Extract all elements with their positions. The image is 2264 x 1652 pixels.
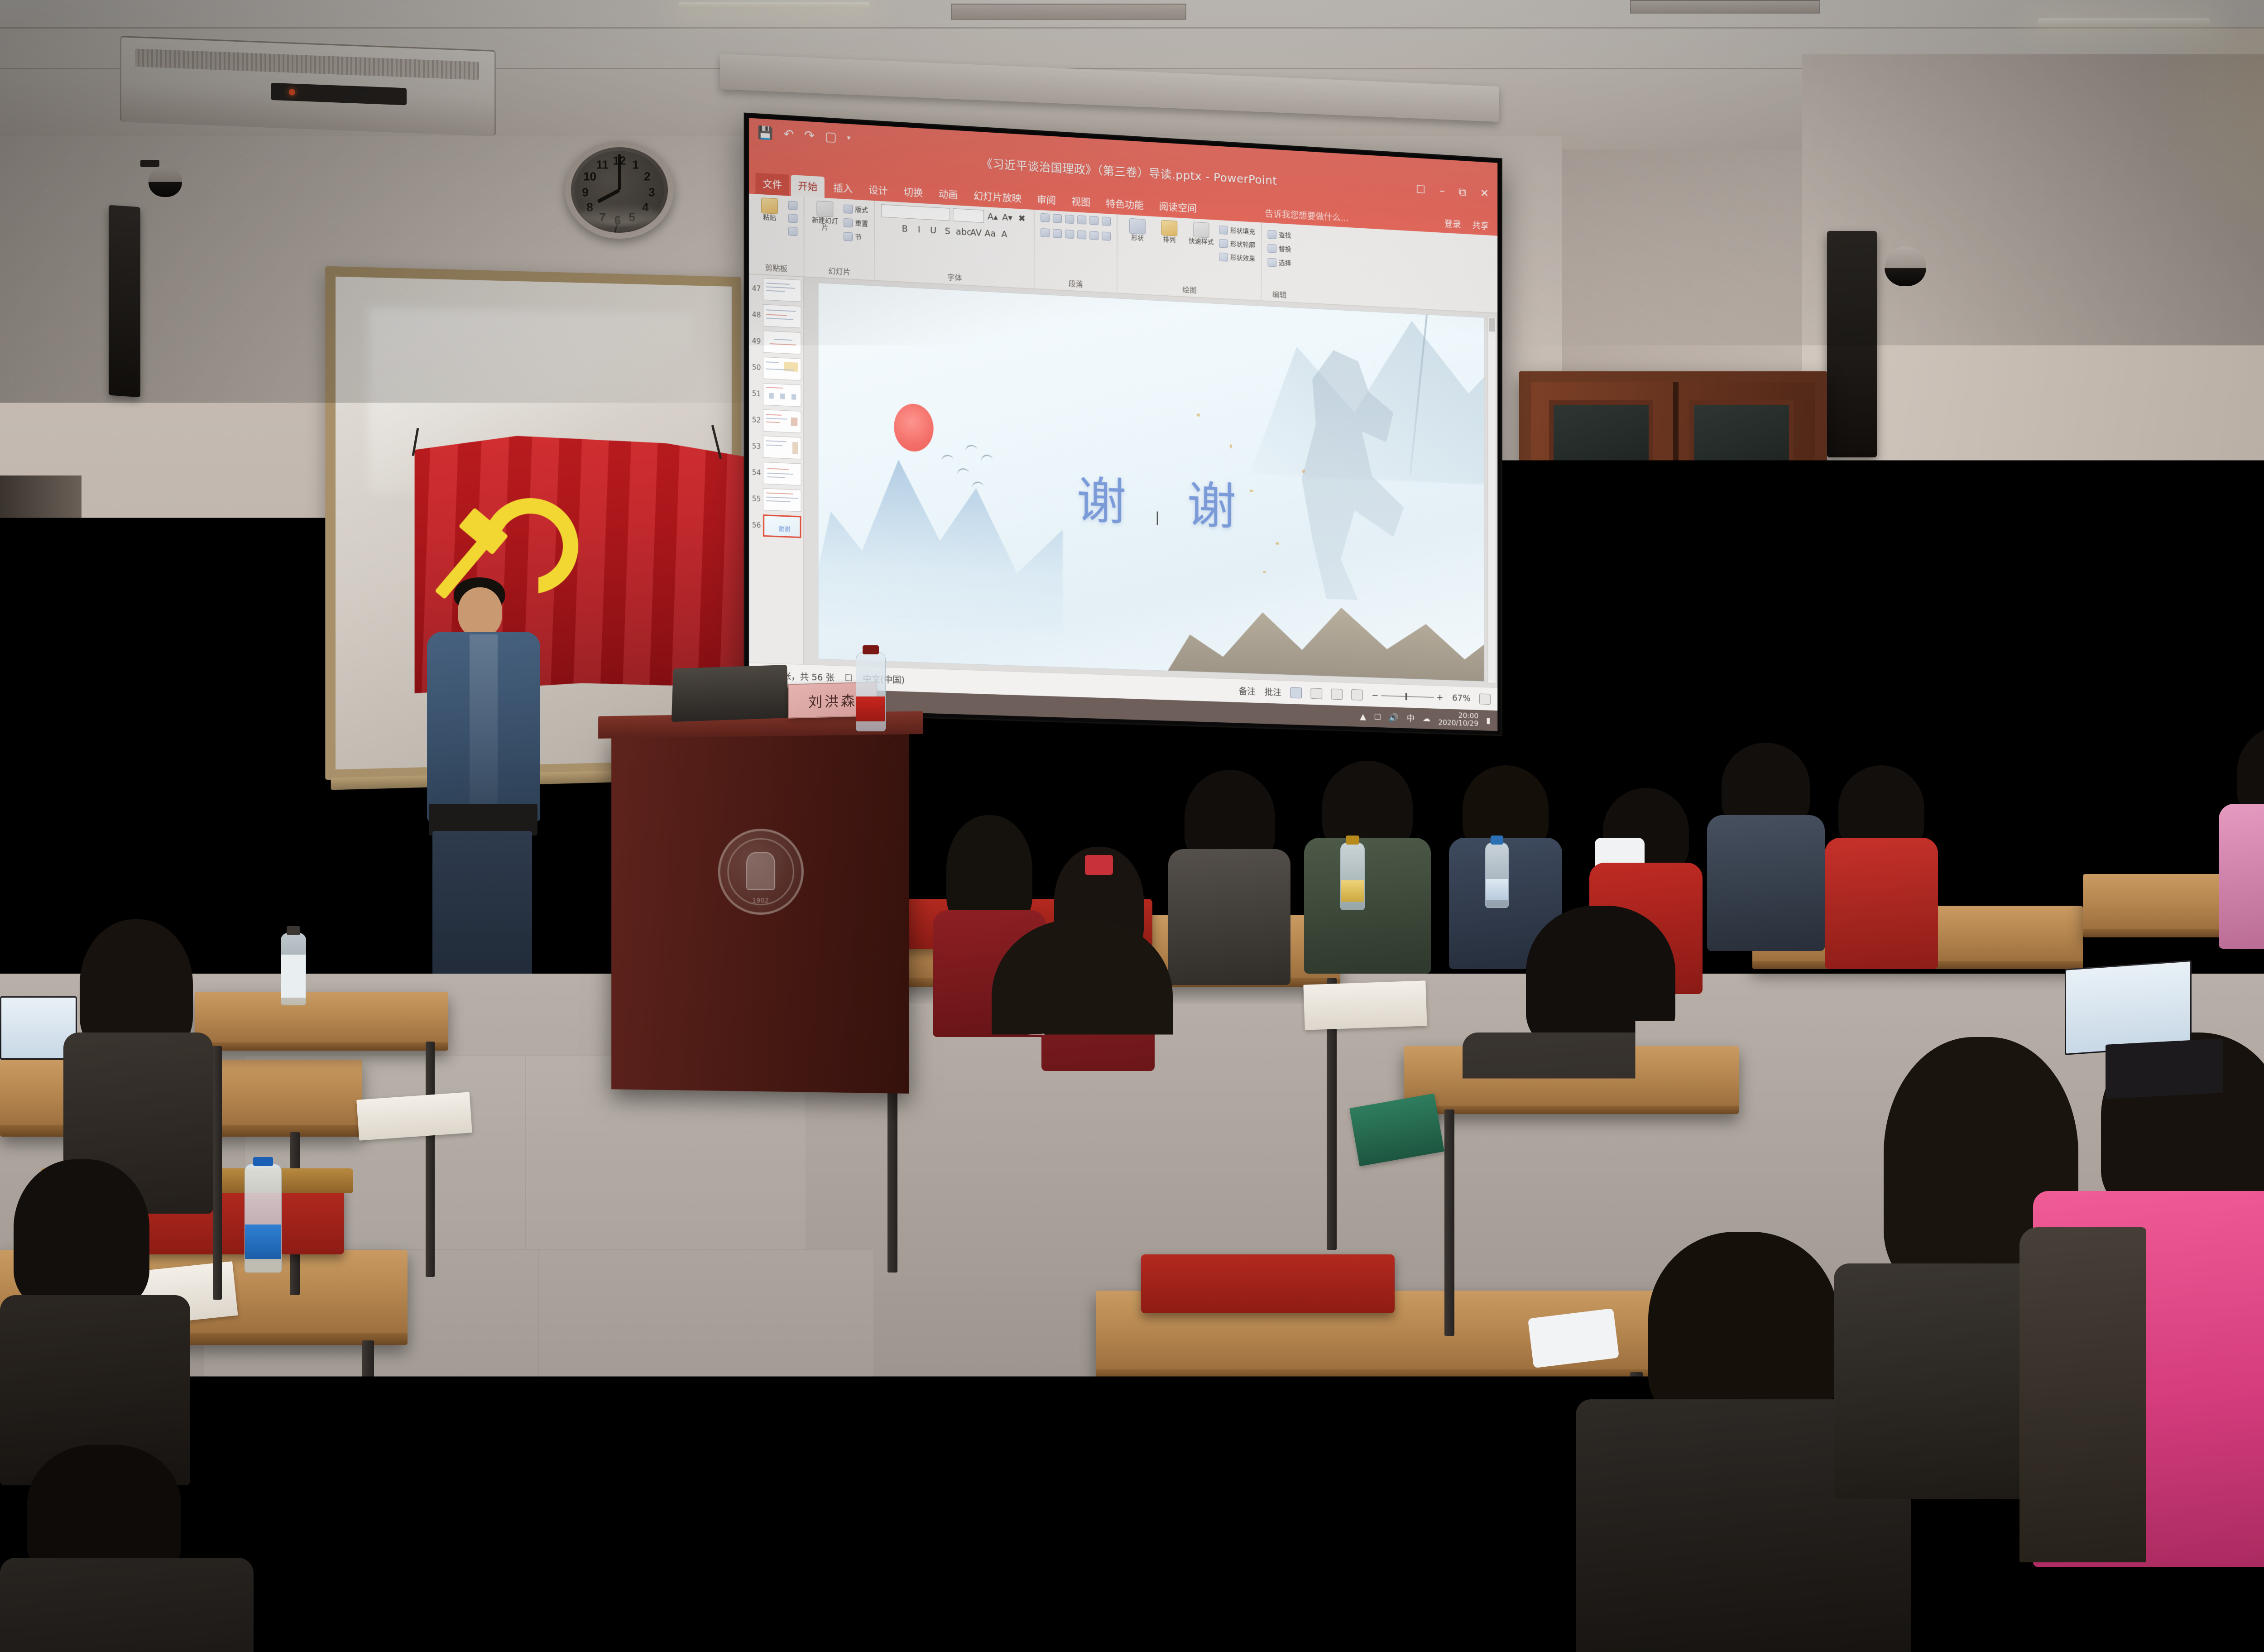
- wall-speaker-right: [1827, 231, 1877, 457]
- arrange-button[interactable]: 排列: [1156, 220, 1183, 244]
- clock-hour-hand: [597, 188, 620, 203]
- italic-icon[interactable]: I: [913, 225, 925, 235]
- thermos-left: [281, 933, 306, 1005]
- arrange-icon[interactable]: [1161, 220, 1178, 236]
- papers-mid-left: [356, 1092, 472, 1140]
- water-bottle-left: [245, 1164, 282, 1273]
- thumbnail-item[interactable]: 53: [751, 435, 801, 460]
- tab-transitions[interactable]: 切换: [897, 181, 930, 204]
- copy-icon: [788, 214, 798, 223]
- zoom-knob[interactable]: [1405, 693, 1407, 700]
- format-painter-button[interactable]: [788, 227, 798, 236]
- select-icon: [1268, 258, 1277, 267]
- quick-styles-button[interactable]: 快速样式: [1187, 221, 1215, 246]
- slide-thumbnail-pane[interactable]: 47 48 49 50: [749, 274, 804, 664]
- ribbon-group-slides: 新建幻灯片 版式 重置 节 幻灯片: [805, 197, 875, 280]
- line-spacing-icon[interactable]: [1089, 216, 1098, 225]
- show-hidden-icons-icon[interactable]: ▲: [1360, 712, 1366, 721]
- select-button[interactable]: 选择: [1268, 258, 1291, 268]
- view-reading-icon[interactable]: [1331, 688, 1342, 700]
- change-case-icon[interactable]: Aa: [984, 228, 996, 239]
- student-left-1: [63, 919, 213, 1200]
- replace-icon: [1268, 244, 1277, 253]
- ribbon-group-font: A▴ A▾ ✖ B I U S abc AV Aa A 字体: [875, 201, 1035, 288]
- justify-icon[interactable]: [1077, 231, 1086, 240]
- thumbnail-item[interactable]: 52: [751, 409, 801, 433]
- hair-tie-icon: [1085, 855, 1113, 875]
- replace-button[interactable]: 替换: [1268, 244, 1291, 254]
- decrease-font-size-icon[interactable]: A▾: [1001, 212, 1013, 223]
- clock-minute-hand: [618, 154, 621, 190]
- network-icon[interactable]: ☐: [1374, 712, 1381, 722]
- red-sun-motif: [894, 403, 933, 452]
- tab-special-features[interactable]: 特色功能: [1099, 192, 1151, 216]
- student-fg-pink: [2033, 1032, 2264, 1567]
- minimize-icon[interactable]: –: [1439, 184, 1445, 197]
- classroom-scene: 12 1 2 3 4 5 6 7 8 9 10 11: [0, 0, 2264, 1652]
- thumbnail-item[interactable]: 54: [751, 461, 801, 486]
- slide-editing-area[interactable]: 谢 谢: [804, 277, 1498, 687]
- current-slide[interactable]: 谢 谢: [818, 283, 1484, 682]
- undo-icon[interactable]: ↶: [783, 127, 794, 142]
- clear-formatting-icon[interactable]: ✖: [1016, 213, 1028, 224]
- zoom-out-icon[interactable]: −: [1372, 690, 1378, 700]
- taskbar-clock[interactable]: 20:00 2020/10/29: [1438, 711, 1478, 728]
- align-left-icon[interactable]: [1041, 228, 1050, 237]
- electrical-panel[interactable]: [1934, 544, 2030, 639]
- shape-outline-icon: [1219, 239, 1228, 248]
- bottle-center-2: [1485, 842, 1509, 908]
- tab-insert[interactable]: 插入: [826, 177, 860, 200]
- seal-year: 1902: [720, 897, 801, 904]
- gold-mountain-outline: [1163, 582, 1484, 682]
- hood-icon: [1046, 1069, 1123, 1132]
- podium-laptop: [672, 665, 789, 722]
- scrollbar-thumb[interactable]: [1489, 318, 1495, 331]
- thumbnail-item[interactable]: 51: [751, 383, 801, 407]
- underline-icon[interactable]: U: [927, 225, 939, 236]
- projection-screen: 💾 ↶ ↷ ▢ ▾ 《习近平谈治国理政》（第三卷）导读.pptx - Power…: [744, 113, 1502, 736]
- layout-button[interactable]: 版式: [844, 204, 868, 215]
- increase-font-size-icon[interactable]: A▴: [987, 211, 998, 222]
- save-icon[interactable]: 💾: [758, 125, 773, 141]
- paste-icon[interactable]: [761, 197, 778, 214]
- powerpoint-window: 💾 ↶ ↷ ▢ ▾ 《习近平谈治国理政》（第三卷）导读.pptx - Power…: [749, 118, 1497, 731]
- close-icon[interactable]: ✕: [1480, 187, 1489, 200]
- zoom-level[interactable]: 67%: [1452, 693, 1471, 703]
- notes-button[interactable]: 备注: [1239, 685, 1256, 697]
- char-spacing-icon[interactable]: AV: [970, 227, 982, 238]
- align-center-icon[interactable]: [1053, 229, 1062, 238]
- thumbnail-item[interactable]: 55: [751, 488, 801, 512]
- student-r1: [2219, 725, 2264, 937]
- zoom-in-icon[interactable]: +: [1436, 692, 1443, 702]
- notebook-center: [913, 1033, 1047, 1090]
- tab-file[interactable]: 文件: [755, 173, 789, 196]
- thumbnail-item[interactable]: 48: [751, 303, 801, 328]
- format-painter-icon: [788, 227, 798, 236]
- shapes-button[interactable]: 形状: [1123, 218, 1151, 242]
- redo-icon[interactable]: ↷: [804, 128, 815, 143]
- desk-mid-left: [195, 992, 448, 1051]
- reset-button[interactable]: 重置: [844, 218, 868, 228]
- ribbon-display-icon[interactable]: ☐: [1416, 183, 1425, 196]
- smartart-icon[interactable]: [1102, 232, 1111, 241]
- increase-indent-icon[interactable]: [1077, 215, 1086, 224]
- align-right-icon[interactable]: [1065, 230, 1074, 239]
- quick-styles-icon[interactable]: [1193, 222, 1209, 238]
- air-conditioner: [120, 36, 496, 136]
- clock-glass-glare: [580, 204, 658, 226]
- system-tray[interactable]: ▲ ☐ 🔊 中 ☁ 20:00 2020/10/29 ▮: [1360, 709, 1491, 728]
- new-slide-icon[interactable]: [816, 201, 833, 217]
- laptop-right-2: [2106, 1038, 2223, 1099]
- shape-effects-icon: [1219, 252, 1228, 261]
- zoom-slider[interactable]: − +: [1372, 690, 1444, 702]
- columns-icon[interactable]: [1089, 231, 1098, 240]
- decrease-indent-icon[interactable]: [1065, 215, 1074, 224]
- tell-me-search[interactable]: 告诉我您想要做什么...: [1265, 207, 1349, 224]
- font-name-input[interactable]: [881, 204, 950, 221]
- university-seal: 1902: [718, 828, 804, 915]
- vest-icon: [2019, 1227, 2146, 1562]
- thumbnail-item-selected[interactable]: 56 谢谢: [751, 514, 801, 538]
- shape-fill-icon: [1219, 225, 1228, 234]
- student-c4: [1304, 761, 1431, 965]
- font-size-input[interactable]: [953, 208, 984, 223]
- text-direction-icon[interactable]: [1102, 216, 1111, 226]
- cut-button[interactable]: [788, 201, 798, 210]
- new-slide-button[interactable]: 新建幻灯片: [811, 200, 839, 232]
- ppt-workspace: 47 48 49 50: [749, 274, 1497, 687]
- tab-design[interactable]: 设计: [862, 179, 895, 202]
- ribbon-group-clipboard: 粘贴 剪贴板: [749, 194, 805, 277]
- fit-slide-icon[interactable]: [1479, 693, 1491, 704]
- share-button[interactable]: 共享: [1472, 219, 1489, 232]
- layout-icon: [844, 204, 853, 213]
- podium-water-bottle: [856, 652, 886, 731]
- spellcheck-icon[interactable]: ☐: [844, 673, 852, 683]
- dome-camera-right: [1875, 235, 1933, 290]
- view-slideshow-icon[interactable]: [1351, 689, 1362, 701]
- cut-icon: [788, 201, 798, 210]
- ac-grille: [135, 48, 479, 80]
- start-slideshow-icon[interactable]: ▢: [825, 129, 837, 144]
- papers-center: [1303, 980, 1427, 1030]
- ime-chinese-icon[interactable]: 中: [1407, 712, 1415, 724]
- ribbon-group-paragraph: 段落: [1035, 210, 1118, 293]
- door-handle-icon[interactable]: [1652, 699, 1662, 754]
- shape-outline-button[interactable]: 形状轮廓: [1219, 239, 1255, 250]
- sign-in-link[interactable]: 登录: [1444, 217, 1461, 231]
- reset-icon: [844, 218, 853, 227]
- tab-reading-space[interactable]: 阅读空间: [1152, 196, 1204, 219]
- shape-fill-button[interactable]: 形状填充: [1219, 225, 1255, 236]
- comments-button[interactable]: 批注: [1265, 686, 1281, 698]
- thumbnail-item[interactable]: 47: [751, 277, 801, 302]
- student-fg-lavender: [910, 919, 1254, 1399]
- section-icon: [844, 232, 853, 241]
- tab-home[interactable]: 开始: [791, 175, 825, 198]
- find-icon: [1268, 230, 1277, 239]
- view-normal-icon[interactable]: [1290, 687, 1301, 698]
- paste-button[interactable]: 粘贴: [755, 197, 784, 222]
- text-shadow-icon[interactable]: S: [941, 226, 953, 237]
- tab-review[interactable]: 审阅: [1030, 188, 1063, 211]
- student-c8: [1825, 765, 1938, 960]
- ac-power-led-icon: [289, 89, 295, 96]
- restore-icon[interactable]: ⧉: [1458, 186, 1466, 199]
- ribbon-group-drawing: 形状 排列 快速样式 形状填充 形状轮廓 形: [1118, 214, 1262, 300]
- shape-effects-button[interactable]: 形状效果: [1219, 252, 1255, 263]
- lecture-podium: 1902: [611, 727, 909, 1094]
- panel-latch-icon[interactable]: [2011, 590, 2016, 610]
- person-left-standing: [61, 591, 192, 845]
- bullets-icon[interactable]: [1041, 213, 1050, 222]
- section-button[interactable]: 节: [844, 231, 868, 242]
- shapes-icon[interactable]: [1129, 218, 1146, 235]
- dome-camera-left: [140, 156, 190, 199]
- tab-view[interactable]: 视图: [1065, 191, 1097, 213]
- wall-speaker-left: [109, 205, 140, 398]
- student-left-2: [0, 1159, 190, 1476]
- qat-dropdown-icon[interactable]: ▾: [847, 134, 850, 142]
- tab-animations[interactable]: 动画: [932, 183, 965, 206]
- bell-emblem-icon: [746, 852, 776, 890]
- face-mask-on-desk: [1528, 1308, 1619, 1368]
- wall-light-glow: [2151, 27, 2264, 281]
- bottle-center: [1340, 842, 1365, 910]
- ribbon-group-editing: 查找 替换 选择 编辑: [1262, 222, 1297, 302]
- copy-button[interactable]: [788, 214, 798, 223]
- view-slide-sorter-icon[interactable]: [1311, 688, 1322, 699]
- show-desktop-icon[interactable]: ▮: [1486, 716, 1491, 725]
- numbering-icon[interactable]: [1053, 214, 1062, 223]
- slide-vertical-scrollbar[interactable]: [1487, 317, 1496, 684]
- thumbnail-item[interactable]: 49: [751, 330, 801, 354]
- font-color-icon[interactable]: A: [998, 229, 1010, 240]
- wall-clock: 12 1 2 3 4 5 6 7 8 9 10 11: [565, 141, 674, 239]
- find-button[interactable]: 查找: [1268, 230, 1291, 240]
- strikethrough-icon[interactable]: abc: [956, 227, 968, 238]
- thumbnail-item[interactable]: 50: [751, 356, 801, 380]
- taskbar-date: 2020/10/29: [1438, 719, 1478, 728]
- eyeglasses-icon: [2077, 555, 2139, 567]
- volume-icon[interactable]: 🔊: [1389, 713, 1399, 722]
- text-cursor-icon: [1157, 511, 1158, 525]
- bold-icon[interactable]: B: [899, 224, 911, 235]
- tab-slideshow[interactable]: 幻灯片放映: [967, 185, 1028, 209]
- onedrive-icon[interactable]: ☁: [1422, 714, 1430, 723]
- bag-foreground: [127, 1503, 362, 1652]
